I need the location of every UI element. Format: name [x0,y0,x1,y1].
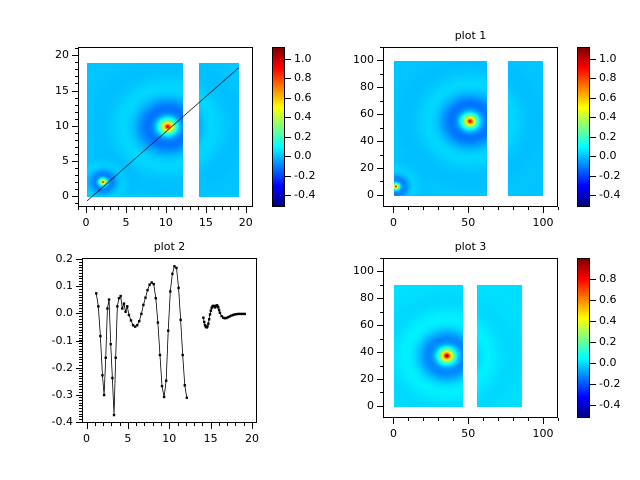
panel-bottom-right-colorbar-tick [590,300,596,301]
panel-bottom-right-title: plot 3 [383,240,558,253]
panel-bottom-right-ytick-minor [380,258,383,259]
panel-bottom-right-ytick-major [377,298,383,299]
panel-bottom-right-colorbar-ticklabel: 0.4 [599,314,617,327]
panel-bottom-right-colorbar-ticklabel: 0.2 [599,335,617,348]
panel-bottom-right-colorbar-tick [590,279,596,280]
panel-bottom-right-ytick-minor [380,339,383,340]
panel-bottom-right-ytick-major [377,271,383,272]
panel-bottom-right-yticklabel: 80 [323,291,374,304]
panel-bottom-right-colorbar-ticklabel: 0.8 [599,272,617,285]
figure-canvas: 0510152005101520-0.4-0.20.00.20.40.60.81… [0,0,640,480]
panel-bottom-right-xtick-minor [498,418,499,421]
panel-bottom-right-ytick-major [377,379,383,380]
panel-bottom-right-xtick-minor [423,418,424,421]
panel-bottom-right-xticklabel: 100 [523,427,563,440]
panel-bottom-right-ytick-minor [380,366,383,367]
panel-bottom-right-colorbar-tick [590,321,596,322]
panel-bottom-right-xtick-major [543,418,544,424]
panel-bottom-right-ytick-major [377,325,383,326]
panel-bottom-right-colorbar-tick [590,405,596,406]
panel-bottom-right-xtick-major [393,418,394,424]
panel-bottom-right-xtick-minor [438,418,439,421]
panel-bottom-right-colorbar-gradient [578,259,589,417]
panel-bottom-right-colorbar-tick [590,342,596,343]
panel-bottom-right-yticklabel: 60 [323,318,374,331]
panel-bottom-right-ytick-minor [380,312,383,313]
panel-bottom-right-xtick-minor [528,418,529,421]
panel-bottom-right-colorbar-tick [590,384,596,385]
panel-bottom-right-xticklabel: 0 [373,427,413,440]
panel-bottom-right-colorbar-ticklabel: 0.0 [599,356,617,369]
panel-bottom-right-colorbar-ticklabel: 0.6 [599,293,617,306]
panel-bottom-right-xtick-major [468,418,469,424]
panel-bottom-right-xtick-minor [483,418,484,421]
panel-bottom-right-colorbar-ticklabel: -0.2 [599,377,620,390]
panel-bottom-right-yticklabel: 0 [323,399,374,412]
panel-bottom-right-xtick-minor [513,418,514,421]
panel-bottom-right-yticklabel: 40 [323,345,374,358]
panel-bottom-right-xtick-minor [408,418,409,421]
panel-bottom-right-ytick-minor [380,285,383,286]
panel-bottom-right-xtick-minor [453,418,454,421]
panel-bottom-right-ytick-major [377,406,383,407]
panel-bottom-right-yticklabel: 20 [323,372,374,385]
panel-bottom-right-image-field [384,259,558,418]
panel-bottom-right-xtick-minor [558,418,559,421]
panel-bottom-right-colorbar-ticklabel: -0.4 [599,398,620,411]
image-plot-plot-3: plot 3050100020406080100-0.4-0.20.00.20.… [0,0,640,480]
panel-bottom-right-colorbar [577,258,590,418]
panel-bottom-right-yticklabel: 100 [323,264,374,277]
panel-bottom-right-colorbar-tick [590,363,596,364]
panel-bottom-right-axes [383,258,558,418]
panel-bottom-right-ytick-minor [380,392,383,393]
panel-bottom-right-ytick-major [377,352,383,353]
panel-bottom-right-xticklabel: 50 [448,427,488,440]
